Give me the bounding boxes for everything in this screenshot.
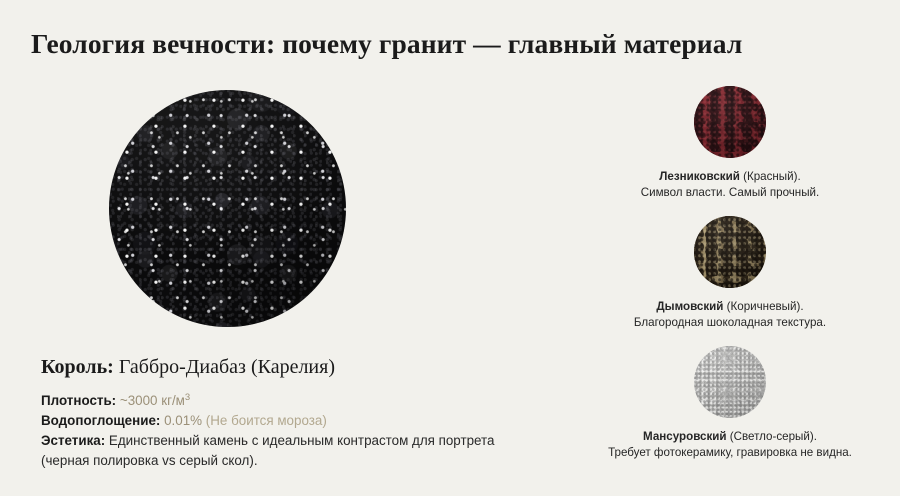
sample-caption: Дымовский (Коричневый). Благородная шоко… <box>560 299 900 332</box>
sample-description: Требует фотокерамику, гравировка не видн… <box>608 446 852 459</box>
sample-card-dymovsky: Дымовский (Коричневый). Благородная шоко… <box>560 216 900 346</box>
sample-card-mansurovsky: Мансуровский (Светло-серый). Требует фот… <box>560 346 900 478</box>
swatch-sheen-layer <box>694 216 766 288</box>
sample-color-label: (Красный). <box>740 170 801 183</box>
granite-sample-column: Лезниковский (Красный). Символ власти. С… <box>560 86 900 478</box>
stone-spec-block: Король: Габбро-Диабаз (Карелия) Плотност… <box>41 354 501 471</box>
mansurovsky-grey-granite-swatch <box>694 346 766 418</box>
page-title: Геология вечности: почему гранит — главн… <box>31 27 871 61</box>
water-absorption-label: Водопоглощение: <box>41 413 160 428</box>
sample-caption: Лезниковский (Красный). Символ власти. С… <box>560 169 900 202</box>
sample-color-label: (Коричневый). <box>723 300 803 313</box>
aesthetics-text: Единственный камень с идеальным контраст… <box>41 433 494 468</box>
king-stone-line: Король: Габбро-Диабаз (Карелия) <box>41 354 501 380</box>
sample-color-label: (Светло-серый). <box>727 430 817 443</box>
sample-description: Символ власти. Самый прочный. <box>641 186 820 199</box>
spec-row-aesthetics: Эстетика: Единственный камень с идеальны… <box>41 431 501 470</box>
spec-row-water-absorption: Водопоглощение: 0.01% (Не боится мороза) <box>41 411 501 430</box>
sample-caption: Мансуровский (Светло-серый). Требует фот… <box>560 429 900 462</box>
leznikovsky-red-granite-swatch <box>694 86 766 158</box>
swatch-sheen-layer <box>694 346 766 418</box>
water-absorption-note: (Не боится мороза) <box>206 413 327 428</box>
dymovsky-brown-granite-swatch <box>694 216 766 288</box>
sample-card-leznikovsky: Лезниковский (Красный). Символ власти. С… <box>560 86 900 216</box>
king-label: Король: <box>41 356 114 378</box>
density-unit-superscript: 3 <box>185 392 190 403</box>
sample-description: Благородная шоколадная текстура. <box>634 316 826 329</box>
spec-row-density: Плотность: ~3000 кг/м3 <box>41 388 501 410</box>
density-value: ~3000 кг/м <box>120 393 185 408</box>
sample-name: Мансуровский <box>643 430 727 443</box>
gabbro-diabase-sample-circle <box>109 90 346 327</box>
density-label: Плотность: <box>41 393 116 408</box>
king-value: Габбро-Диабаз (Карелия) <box>114 356 335 378</box>
swatch-sheen-layer <box>694 86 766 158</box>
hero-sheen-layer <box>109 90 346 327</box>
sample-name: Лезниковский <box>659 170 740 183</box>
aesthetics-label: Эстетика: <box>41 433 105 448</box>
sample-name: Дымовский <box>656 300 723 313</box>
water-absorption-value: 0.01% <box>164 413 202 428</box>
